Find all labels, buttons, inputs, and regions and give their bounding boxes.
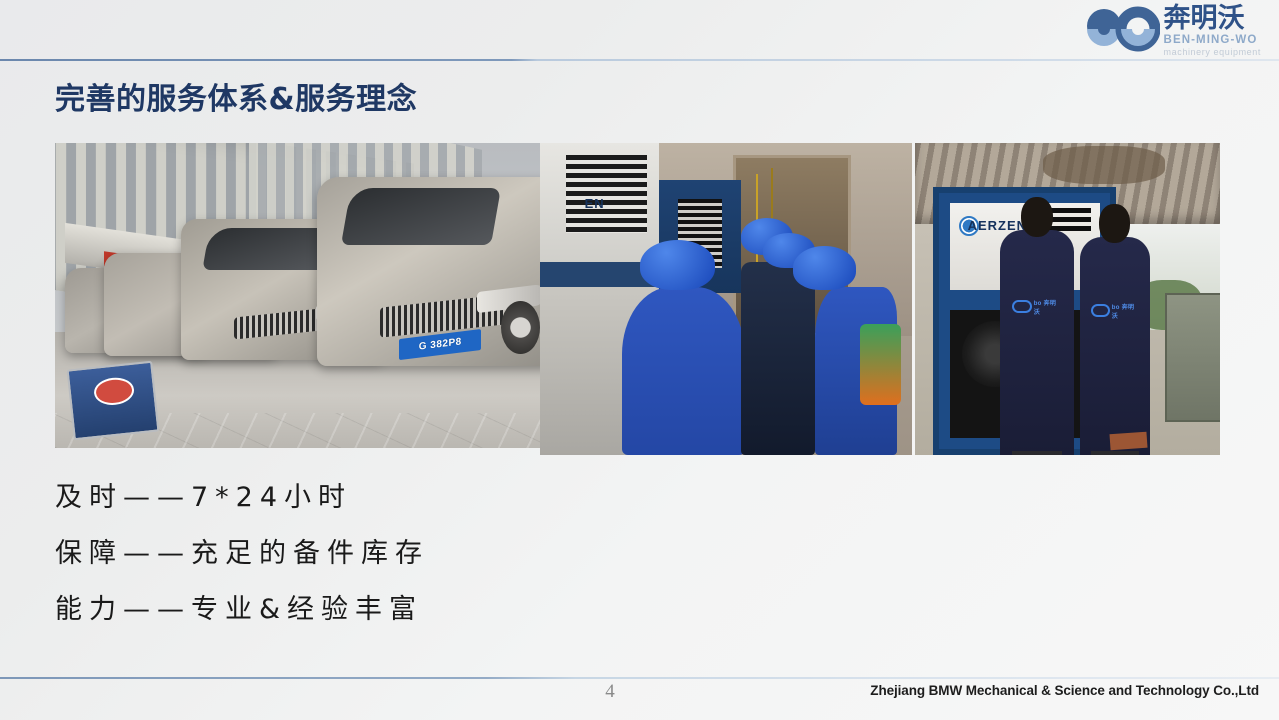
logo-chinese-name: 奔明沃: [1164, 5, 1261, 33]
footer-divider: [0, 677, 1279, 679]
bo-monogram-icon: [1072, 4, 1160, 54]
photo2-worker-front-back: [622, 287, 745, 455]
photo3-brick: [1110, 432, 1148, 450]
logo-pinyin: BEN-MING-WO: [1164, 34, 1261, 46]
photo2-louver-grille: [566, 155, 647, 232]
slide-canvas: 奔明沃 BEN-MING-WO machinery equipment 完善的服…: [0, 0, 1279, 720]
photo1-car-1-windshield: [341, 188, 501, 245]
photo2-worker-center: [741, 262, 815, 455]
photo-fleet-of-service-vehicles: G 382P8: [55, 143, 540, 448]
photo2-worker-far-right: [860, 324, 901, 405]
photo3-technician-left-legs: [1012, 451, 1062, 456]
photo-aerzen-unit-maintenance: AERZEN bo 奔明沃 bo 奔: [915, 143, 1220, 455]
photo3-jacket-brand-right: bo 奔明沃: [1091, 293, 1139, 328]
photo1-car-1-wheel: [501, 301, 540, 354]
photo-technicians-servicing-blower: EN: [540, 143, 912, 455]
photo3-technician-right-head: [1099, 204, 1130, 243]
photo3-site-cabinet: [1165, 293, 1220, 422]
photo3-technician-right: bo 奔明沃: [1080, 237, 1150, 455]
header-divider: [0, 59, 1279, 61]
photo2-brand-text: EN: [585, 196, 605, 211]
bo-monogram-icon-jacket-left: [1012, 300, 1032, 313]
photo3-technician-left: bo 奔明沃: [1000, 230, 1073, 455]
photo-strip: G 382P8 EN: [55, 143, 1220, 455]
service-principle-line-1: 及时——7*24小时: [55, 470, 429, 526]
service-principles-list: 及时——7*24小时 保障——充足的备件库存 能力——专业&经验丰富: [55, 470, 429, 638]
photo3-technician-right-legs: [1091, 451, 1139, 455]
service-principle-line-2: 保障——充足的备件库存: [55, 526, 429, 582]
photo2-hardhat-1: [640, 240, 714, 290]
logo-tagline: machinery equipment: [1164, 47, 1261, 57]
photo3-jacket-brand-text-left: bo 奔明沃: [1034, 298, 1062, 316]
service-principle-line-3: 能力——专业&经验丰富: [55, 582, 429, 638]
bo-monogram-icon-jacket-right: [1091, 304, 1110, 317]
photo3-jacket-brand-text-right: bo 奔明沃: [1112, 302, 1139, 320]
photo3-technician-left-head: [1021, 197, 1053, 237]
photo1-car-2-windshield: [202, 228, 336, 270]
photo2-hardhat-4: [793, 246, 856, 290]
photo1-parking-sign: [66, 360, 159, 440]
brand-logo: 奔明沃 BEN-MING-WO machinery equipment: [1072, 4, 1261, 56]
slide-title: 完善的服务体系&服务理念: [55, 74, 417, 118]
footer-company-name: Zhejiang BMW Mechanical & Science and Te…: [870, 683, 1259, 698]
photo1-car-1: G 382P8: [317, 177, 540, 366]
photo3-roof-rust-patch: [1043, 146, 1165, 183]
page-number: 4: [598, 681, 622, 703]
photo3-jacket-brand-left: bo 奔明沃: [1012, 289, 1062, 325]
logo-wordmark: 奔明沃 BEN-MING-WO machinery equipment: [1164, 4, 1261, 57]
